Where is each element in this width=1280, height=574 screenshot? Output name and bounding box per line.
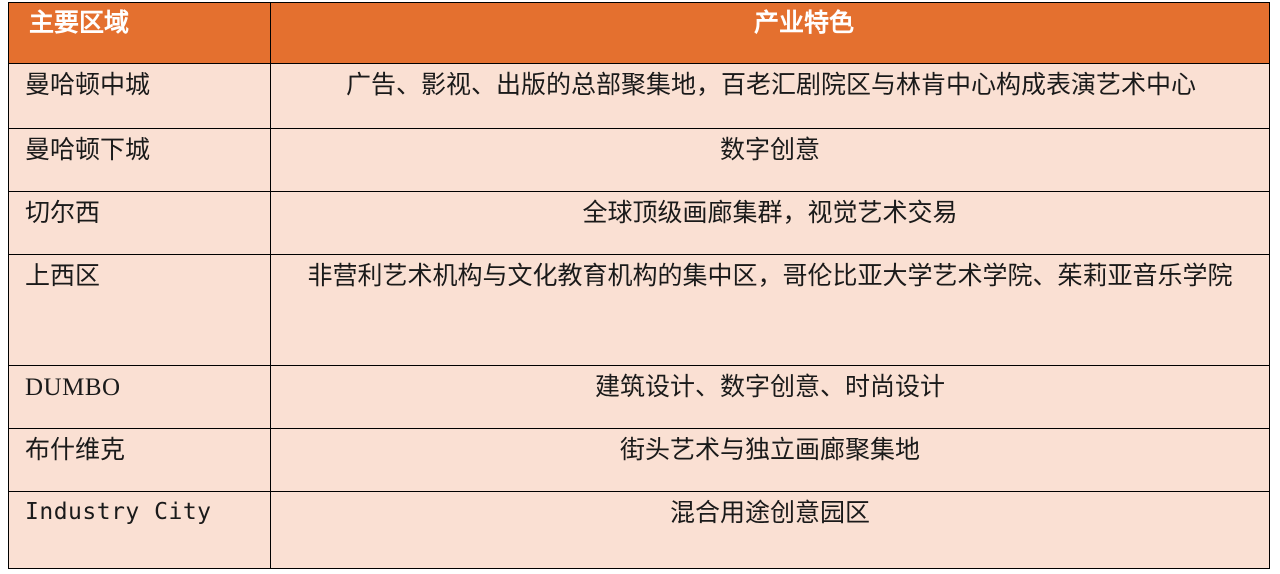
cell-region: 上西区 (9, 255, 271, 366)
cell-region: 布什维克 (9, 429, 271, 492)
cell-feature: 街头艺术与独立画廊聚集地 (271, 429, 1270, 492)
table-row: 曼哈顿中城 广告、影视、出版的总部聚集地，百老汇剧院区与林肯中心构成表演艺术中心 (9, 64, 1270, 129)
region-industry-table-container: 主要区域 产业特色 曼哈顿中城 广告、影视、出版的总部聚集地，百老汇剧院区与林肯… (8, 2, 1269, 568)
table-header: 主要区域 产业特色 (9, 3, 1270, 64)
cell-region: DUMBO (9, 366, 271, 429)
cell-region: 切尔西 (9, 192, 271, 255)
table-row: 曼哈顿下城 数字创意 (9, 129, 1270, 192)
cell-feature: 数字创意 (271, 129, 1270, 192)
table-header-row: 主要区域 产业特色 (9, 3, 1270, 64)
region-name: 布什维克 (9, 429, 270, 467)
region-name: 曼哈顿中城 (9, 64, 270, 102)
cell-feature: 混合用途创意园区 (271, 492, 1270, 569)
feature-text: 数字创意 (271, 129, 1269, 167)
cell-feature: 广告、影视、出版的总部聚集地，百老汇剧院区与林肯中心构成表演艺术中心 (271, 64, 1270, 129)
feature-text: 混合用途创意园区 (271, 492, 1269, 530)
table-row: 切尔西 全球顶级画廊集群，视觉艺术交易 (9, 192, 1270, 255)
column-header-region: 主要区域 (9, 3, 271, 64)
table-row: 布什维克 街头艺术与独立画廊聚集地 (9, 429, 1270, 492)
table-body: 曼哈顿中城 广告、影视、出版的总部聚集地，百老汇剧院区与林肯中心构成表演艺术中心… (9, 64, 1270, 569)
region-name: 切尔西 (9, 192, 270, 230)
region-name: 上西区 (9, 255, 270, 293)
table-row: DUMBO 建筑设计、数字创意、时尚设计 (9, 366, 1270, 429)
cell-feature: 全球顶级画廊集群，视觉艺术交易 (271, 192, 1270, 255)
column-header-feature: 产业特色 (271, 3, 1270, 64)
region-name: DUMBO (9, 366, 270, 404)
feature-text: 街头艺术与独立画廊聚集地 (271, 429, 1269, 467)
table-row: 上西区 非营利艺术机构与文化教育机构的集中区，哥伦比亚大学艺术学院、茱莉亚音乐学… (9, 255, 1270, 366)
cell-region: Industry City (9, 492, 271, 569)
cell-region: 曼哈顿下城 (9, 129, 271, 192)
region-name: Industry City (9, 492, 270, 527)
column-header-feature-label: 产业特色 (271, 3, 1269, 39)
feature-text: 非营利艺术机构与文化教育机构的集中区，哥伦比亚大学艺术学院、茱莉亚音乐学院 (271, 255, 1269, 293)
cell-region: 曼哈顿中城 (9, 64, 271, 129)
table-row: Industry City 混合用途创意园区 (9, 492, 1270, 569)
feature-text: 全球顶级画廊集群，视觉艺术交易 (271, 192, 1269, 230)
column-header-region-label: 主要区域 (9, 3, 270, 39)
feature-text: 建筑设计、数字创意、时尚设计 (271, 366, 1269, 404)
feature-text: 广告、影视、出版的总部聚集地，百老汇剧院区与林肯中心构成表演艺术中心 (271, 64, 1269, 102)
region-industry-table: 主要区域 产业特色 曼哈顿中城 广告、影视、出版的总部聚集地，百老汇剧院区与林肯… (8, 2, 1270, 569)
cell-feature: 建筑设计、数字创意、时尚设计 (271, 366, 1270, 429)
cell-feature: 非营利艺术机构与文化教育机构的集中区，哥伦比亚大学艺术学院、茱莉亚音乐学院 (271, 255, 1270, 366)
region-name: 曼哈顿下城 (9, 129, 270, 167)
